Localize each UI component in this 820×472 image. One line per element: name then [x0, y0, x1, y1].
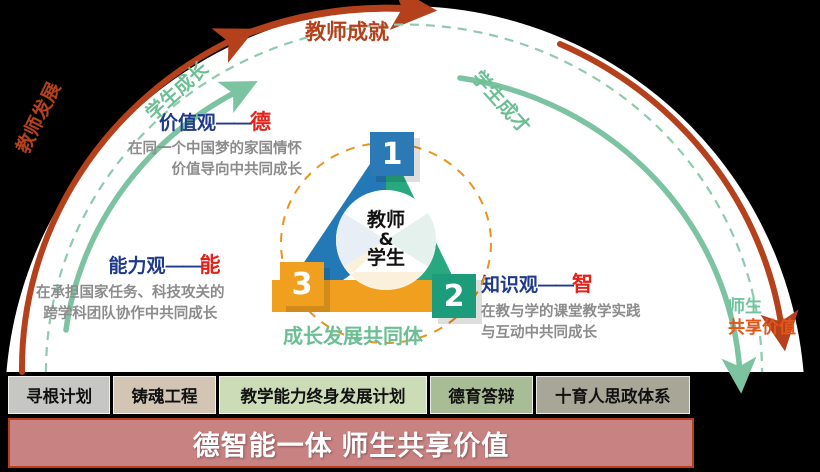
community-label-text: 成长发展共同体 — [283, 326, 423, 348]
arc-label-top-text: 教师成就 — [305, 21, 389, 44]
pillar-3-title-value: 能 — [200, 254, 221, 277]
pillar-3-badge-number: 3 — [292, 267, 313, 302]
pillar-3-body-line2: 跨学科团队协作中共同成长 — [36, 304, 225, 325]
pillar-3-body: 在承担国家任务、科技攻关的 跨学科团队协作中共同成长 — [36, 283, 225, 324]
pillar-1-body-line1: 在同一个中国梦的家国情怀 — [128, 139, 302, 160]
center-line-2: 学生 — [367, 249, 405, 269]
pillar-2-badge-number: 2 — [444, 279, 465, 314]
shared-value-line1: 师生 — [728, 296, 796, 317]
pillar-3-badge: 3 — [280, 262, 324, 306]
pillar-1-title-key: 价值观 — [159, 113, 216, 134]
pillar-2-title: 知识观——智 — [481, 274, 641, 295]
pillar-3-body-line1: 在承担国家任务、科技攻关的 — [36, 283, 225, 304]
shared-value-label: 师生 共享价值 — [728, 296, 796, 339]
bottom-banner-text: 德智能一体 师生共享价值 — [193, 424, 510, 463]
pillar-2-body-line2: 与互动中共同成长 — [481, 323, 641, 344]
bottom-banner: 德智能一体 师生共享价值 — [8, 418, 694, 468]
program-chip[interactable]: 教学能力终身发展计划 — [219, 376, 428, 414]
pillar-1-title: 价值观——德 — [128, 112, 302, 133]
program-chip[interactable]: 寻根计划 — [8, 376, 110, 414]
program-chip-label: 寻根计划 — [26, 383, 92, 407]
pillar-1-title-value: 德 — [250, 111, 271, 134]
pillar-3-block: 能力观——能 在承担国家任务、科技攻关的 跨学科团队协作中共同成长 — [36, 255, 225, 324]
pillar-1-badge-number: 1 — [382, 137, 403, 172]
pillar-2-title-value: 智 — [572, 273, 593, 296]
pillar-1-block: 价值观——德 在同一个中国梦的家国情怀 价值导向中共同成长 — [128, 112, 302, 180]
pillar-2-badge: 2 — [432, 274, 476, 318]
center-circle: 教师 & 学生 — [336, 190, 436, 290]
center-ampersand: & — [379, 231, 394, 249]
program-chip-label: 十育人思政体系 — [555, 383, 671, 407]
pillar-2-title-key: 知识观 — [481, 275, 538, 296]
program-chip-label: 教学能力终身发展计划 — [240, 383, 405, 407]
community-label: 成长发展共同体 — [283, 320, 423, 349]
pillar-1-badge: 1 — [370, 132, 414, 176]
program-chip[interactable]: 十育人思政体系 — [536, 376, 690, 414]
pillar-3-title-key: 能力观 — [108, 256, 165, 277]
program-chip-row: 寻根计划铸魂工程教学能力终身发展计划德育答辩十育人思政体系 — [8, 376, 690, 414]
pillar-2-body: 在教与学的课堂教学实践 与互动中共同成长 — [481, 302, 641, 343]
pillar-2-title-dash: —— — [538, 275, 572, 296]
program-chip[interactable]: 铸魂工程 — [113, 376, 215, 414]
pillar-2-block: 知识观——智 在教与学的课堂教学实践 与互动中共同成长 — [481, 274, 641, 343]
pillar-1-body: 在同一个中国梦的家国情怀 价值导向中共同成长 — [128, 139, 302, 180]
pillar-3-title-dash: —— — [166, 256, 200, 277]
infographic-root: 教师成就 教师发展 学生成长 学生成才 价值观——德 在同一个中国梦的家国情怀 … — [0, 0, 820, 472]
program-chip-label: 铸魂工程 — [131, 383, 197, 407]
center-line-1: 教师 — [367, 211, 405, 231]
center-circle-label: 教师 & 学生 — [336, 190, 436, 290]
program-chip[interactable]: 德育答辩 — [430, 376, 532, 414]
arc-label-top: 教师成就 — [305, 22, 389, 43]
shared-value-line2: 共享价值 — [728, 317, 796, 338]
pillar-3-title: 能力观——能 — [36, 255, 225, 276]
pillar-1-body-line2: 价值导向中共同成长 — [128, 160, 302, 181]
pillar-1-title-dash: —— — [216, 113, 250, 134]
program-chip-label: 德育答辩 — [448, 383, 514, 407]
pillar-2-body-line1: 在教与学的课堂教学实践 — [481, 302, 641, 323]
